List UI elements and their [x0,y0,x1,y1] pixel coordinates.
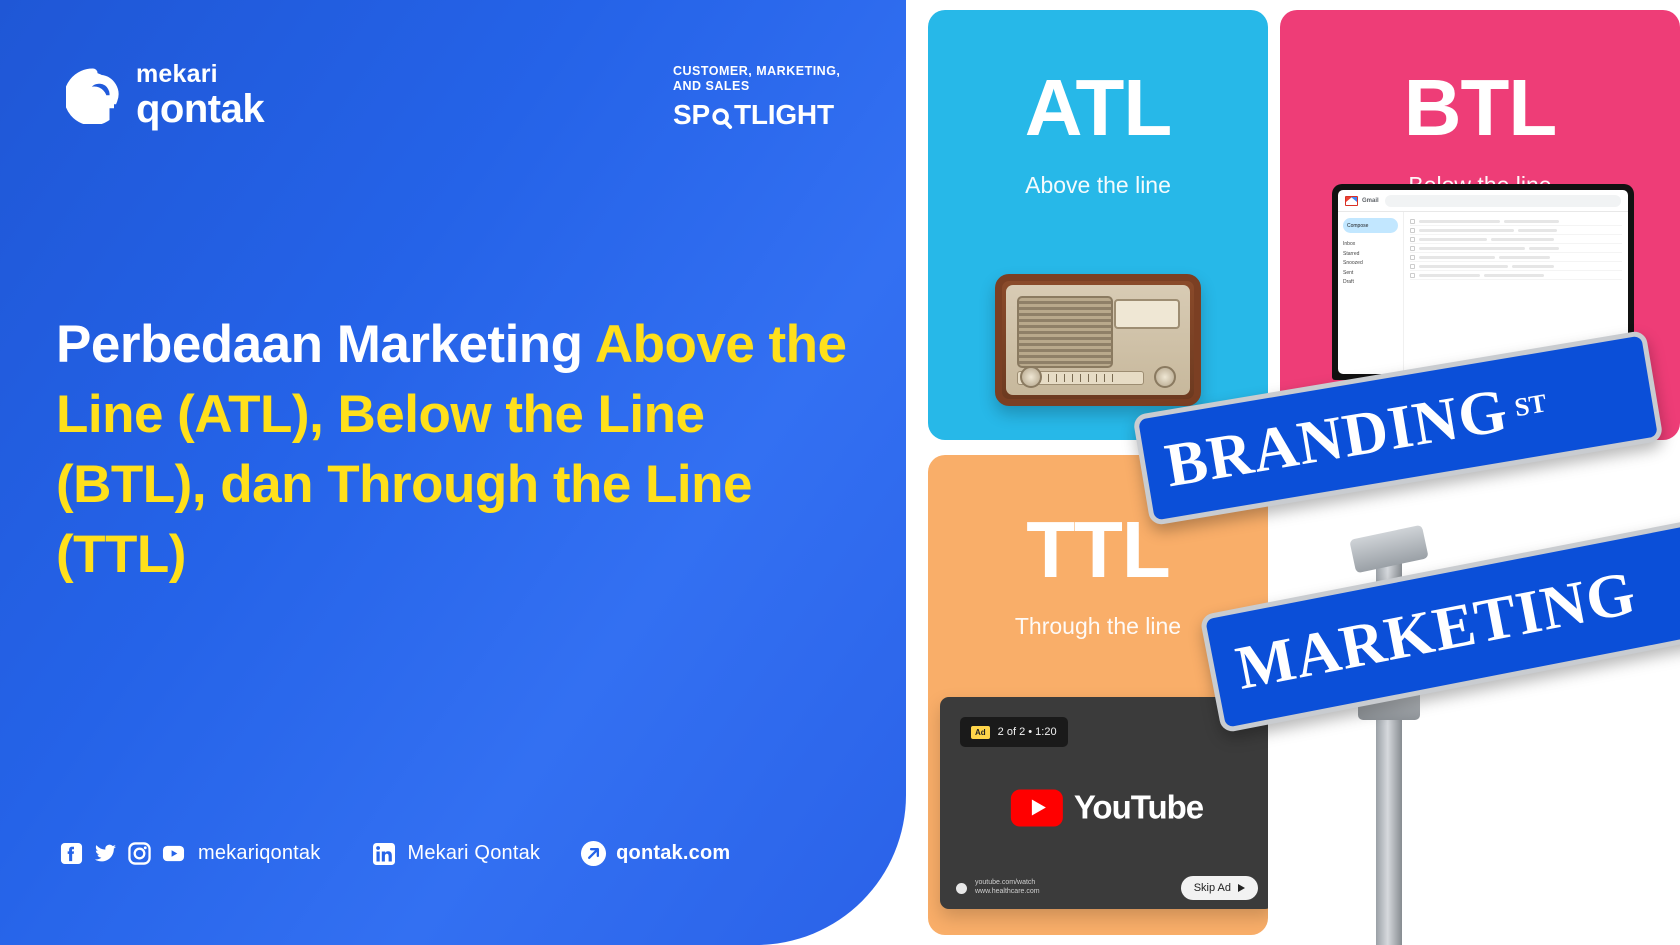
ad-url-sub: www.healthcare.com [975,888,1040,897]
arrow-up-right-icon[interactable] [580,840,607,867]
card-atl-code: ATL [928,68,1268,148]
instagram-icon[interactable] [128,842,151,865]
street-sign-branding-label: BRANDING [1160,375,1513,502]
street-sign-marketing: MARKETING [1199,516,1680,733]
brand-logo[interactable]: mekari qontak [66,62,264,129]
gmail-row[interactable] [1410,253,1622,262]
gmail-nav-draft[interactable]: Draft [1343,278,1398,288]
linkedin-icon[interactable] [372,842,396,866]
gmail-search-input[interactable] [1385,195,1621,207]
panel-gap [906,0,928,945]
gmail-row[interactable] [1410,244,1622,253]
spotlight-eyebrow-line2: AND SALES [673,79,840,94]
footer-social-bar: mekariqontak Mekari Qontak qontak.com [60,840,730,867]
spotlight-word-before: SP [673,99,710,131]
street-sign-branding-suffix: ST [1512,388,1548,423]
headline-white-part: Perbedaan Marketing [56,315,595,374]
linkedin-group: Mekari Qontak [372,842,540,866]
youtube-icon[interactable] [162,842,185,865]
gmail-compose-button[interactable]: Compose [1343,218,1398,233]
website-group[interactable]: qontak.com [580,840,730,867]
facebook-icon[interactable] [60,842,83,865]
linkedin-name-label: Mekari Qontak [407,842,540,865]
sign-pole-bracket-top [1349,525,1428,574]
youtube-play-icon [1011,789,1063,826]
ad-badge: Ad [971,726,990,739]
title-panel: mekari qontak CUSTOMER, MARKETING, AND S… [0,0,906,945]
gmail-nav-sent[interactable]: Sent [1343,269,1398,279]
ad-meta-label: 2 of 2 • 1:20 [998,726,1057,738]
gmail-logo-icon [1345,196,1358,206]
ad-url: youtube.com/watch [975,879,1040,888]
gmail-row[interactable] [1410,271,1622,280]
card-atl-subtitle: Above the line [928,172,1268,199]
social-handles-group: mekariqontak [60,842,320,865]
logo-text-mekari: mekari [136,62,264,87]
gmail-nav-starred[interactable]: Starred [1343,250,1398,260]
spotlight-word-after: TLIGHT [734,99,834,131]
image-collage: ATL Above the line BTL [928,0,1680,945]
gmail-brand-label: Gmail [1362,198,1379,204]
gmail-row[interactable] [1410,217,1622,226]
gmail-nav-inbox[interactable]: Inbox [1343,240,1398,250]
youtube-ad-indicator: Ad 2 of 2 • 1:20 [960,717,1068,747]
magnifier-o-icon [711,104,733,126]
slide-canvas: ATL Above the line BTL [0,0,1680,945]
logo-text-qontak: qontak [136,89,264,129]
spotlight-logo: CUSTOMER, MARKETING, AND SALES SP TLIGHT [673,64,840,131]
gmail-row[interactable] [1410,262,1622,271]
street-sign-marketing-label: MARKETING [1231,557,1642,704]
spotlight-eyebrow-line1: CUSTOMER, MARKETING, [673,64,840,79]
twitter-icon[interactable] [94,842,117,865]
gmail-compose-label: Compose [1347,223,1368,229]
channel-avatar [956,883,967,894]
street-sign-branding: BRANDING ST [1132,330,1663,526]
gmail-nav[interactable]: Inbox Starred Snoozed Sent Draft [1343,240,1398,288]
gmail-row[interactable] [1410,235,1622,244]
mekari-qontak-logo-icon [66,68,122,124]
website-label: qontak.com [616,842,730,865]
card-btl-code: BTL [1280,68,1680,148]
gmail-row[interactable] [1410,226,1622,235]
street-sign-group: BRANDING ST MARKETING [1130,360,1680,945]
social-handle-label: mekariqontak [198,842,320,865]
page-title: Perbedaan Marketing Above the Line (ATL)… [56,310,856,590]
gmail-nav-snoozed[interactable]: Snoozed [1343,259,1398,269]
